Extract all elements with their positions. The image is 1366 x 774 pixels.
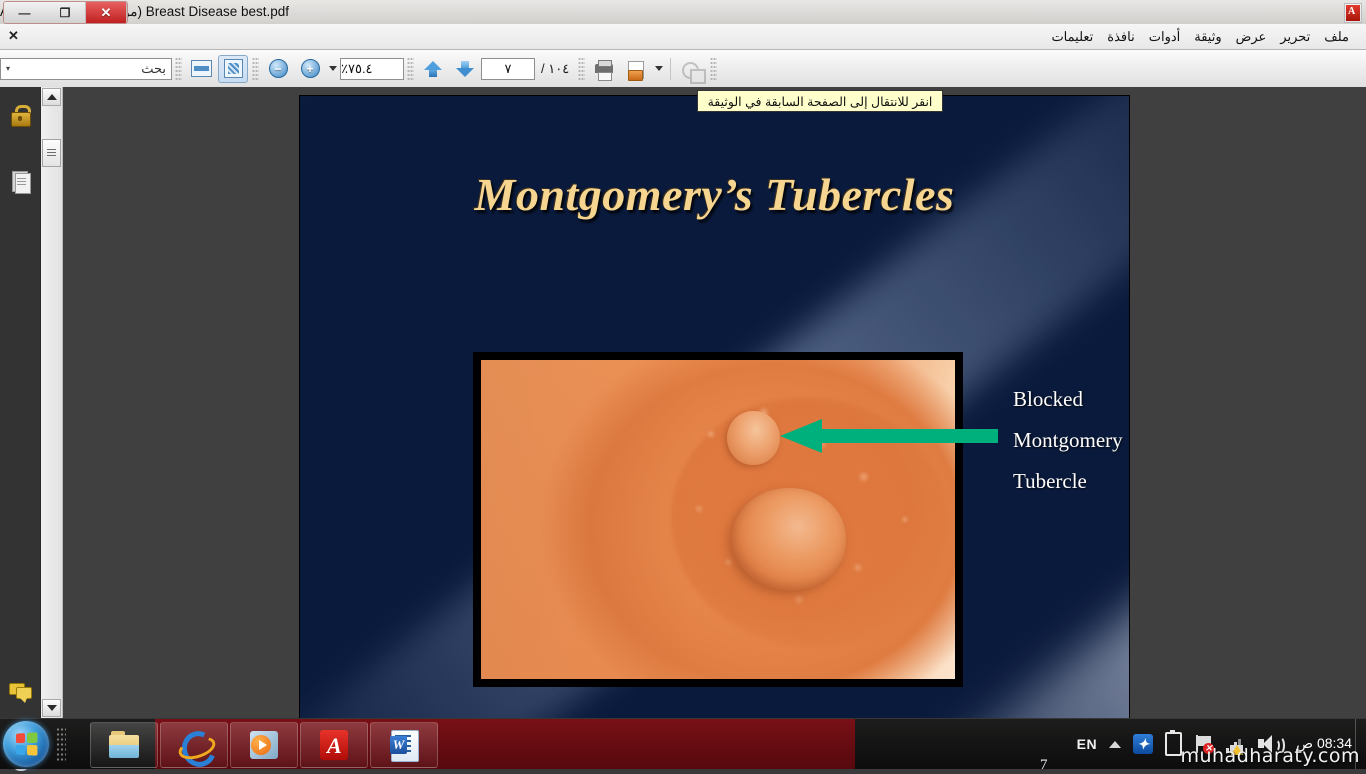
taskbar-adobe-reader[interactable]: A — [300, 722, 368, 768]
chevron-up-icon — [47, 94, 57, 100]
next-page-button[interactable] — [450, 55, 480, 83]
folder-icon — [108, 729, 140, 761]
toolbar-separator — [670, 58, 671, 80]
media-player-icon — [248, 729, 280, 761]
menu-edit[interactable]: تحرير — [1273, 26, 1317, 48]
blocked-tubercle — [727, 411, 779, 465]
vertical-scrollbar[interactable] — [41, 87, 63, 718]
toolbar-grip[interactable] — [710, 57, 717, 81]
menu-bar: ملف تحرير عرض وثيقة أدوات نافذة تعليمات … — [0, 24, 1366, 50]
security-lock-icon[interactable] — [8, 103, 32, 127]
clinical-photo — [481, 360, 955, 679]
arrow-up-icon — [423, 59, 443, 79]
pdf-page: Montgomery’s Tubercles — [300, 96, 1129, 718]
start-button[interactable] — [3, 721, 49, 767]
arrow-down-icon — [455, 59, 475, 79]
label-line-2: Montgomery — [1013, 420, 1153, 461]
restore-icon: ❐ — [60, 7, 71, 19]
zoom-in-icon: + — [301, 59, 320, 78]
window-close-button[interactable]: ✕ — [86, 2, 127, 23]
language-indicator[interactable]: EN — [1077, 736, 1097, 752]
fit-page-button[interactable] — [218, 55, 248, 83]
bluetooth-icon[interactable]: ✦ — [1133, 734, 1153, 754]
clinical-photo-frame — [473, 352, 963, 687]
menu-help[interactable]: تعليمات — [1044, 26, 1100, 48]
adobe-reader-icon: A — [318, 729, 350, 761]
pdf-letter: A — [1348, 6, 1355, 17]
zoom-out-button[interactable]: − — [263, 55, 293, 83]
window-minimize-button[interactable]: — — [4, 2, 45, 23]
page-thumbnails-icon[interactable] — [8, 169, 32, 193]
comments-icon[interactable] — [8, 679, 32, 703]
menu-tools[interactable]: أدوات — [1142, 26, 1188, 48]
site-watermark: muhadharaty.com — [1180, 745, 1360, 767]
minimize-icon: — — [19, 7, 31, 19]
word-icon: W — [388, 729, 420, 761]
zoom-out-icon: − — [269, 59, 288, 78]
menu-window[interactable]: نافذة — [1100, 26, 1141, 48]
document-close-button[interactable]: ✕ — [8, 29, 19, 42]
share-button[interactable] — [676, 55, 706, 83]
adobe-reader-window: ✕ ❐ — Breast Disease best.pdf (مؤقت) - A… — [0, 0, 1366, 718]
search-dropdown-icon[interactable]: ▾ — [6, 64, 10, 73]
document-viewport: Montgomery’s Tubercles Blocked Montgomer… — [0, 87, 1366, 718]
slide-page-number: 7 — [1040, 757, 1048, 774]
nipple — [732, 488, 846, 590]
chevron-down-icon — [47, 705, 57, 711]
email-document-icon — [625, 59, 647, 79]
fit-page-icon — [224, 59, 243, 78]
windows-logo-icon — [16, 732, 37, 756]
zoom-level-input[interactable]: ٧٥.٤٪ — [340, 58, 404, 80]
label-line-1: Blocked — [1013, 379, 1153, 420]
bluetooth-glyph: ✦ — [1133, 734, 1153, 754]
window-controls: ✕ ❐ — — [3, 1, 128, 24]
tooltip: انقر للانتقال إلى الصفحة السابقة في الوث… — [697, 90, 943, 112]
menu-view[interactable]: عرض — [1229, 26, 1274, 48]
window-restore-button[interactable]: ❐ — [45, 2, 86, 23]
taskbar-grip[interactable] — [56, 727, 66, 761]
pdf-app-icon: A — [1344, 3, 1362, 23]
taskbar-media-player[interactable] — [230, 722, 298, 768]
scroll-down-button[interactable] — [42, 699, 61, 717]
fit-width-button[interactable] — [186, 55, 216, 83]
fit-width-icon — [191, 60, 212, 77]
label-line-3: Tubercle — [1013, 461, 1153, 502]
window-title-bar: ✕ ❐ — Breast Disease best.pdf (مؤقت) - A… — [0, 0, 1366, 25]
page-number-input[interactable]: ٧ — [481, 58, 535, 80]
printer-icon — [593, 59, 615, 79]
show-hidden-icons-button[interactable] — [1109, 741, 1121, 748]
navigation-panel — [0, 87, 41, 718]
close-icon: ✕ — [101, 6, 112, 19]
chevron-down-icon[interactable] — [655, 66, 663, 71]
toolbar-grip-3[interactable] — [407, 57, 414, 81]
toolbar-grip-2[interactable] — [578, 57, 585, 81]
grip-lines-icon — [47, 149, 56, 158]
scroll-up-button[interactable] — [42, 88, 61, 106]
previous-page-button[interactable] — [418, 55, 448, 83]
page-total-label: ١٠٤ / — [541, 61, 569, 77]
menu-document[interactable]: وثيقة — [1187, 26, 1228, 48]
taskbar-word[interactable]: W — [370, 722, 438, 768]
zoom-in-button[interactable]: + — [295, 55, 325, 83]
menu-file[interactable]: ملف — [1317, 26, 1356, 48]
slide-title: Montgomery’s Tubercles — [300, 168, 1129, 221]
green-pointer-arrow — [780, 418, 998, 454]
toolbar: ١٠٤ / ٧ ٧٥.٤٪ + − — [0, 50, 1366, 88]
search-field[interactable]: بحث ▾ — [0, 58, 172, 80]
share-globe-icon — [680, 59, 702, 79]
scrollbar-thumb[interactable] — [42, 139, 61, 167]
print-button[interactable] — [589, 55, 619, 83]
toolbar-grip-5[interactable] — [175, 57, 182, 81]
photo-annotation-label: Blocked Montgomery Tubercle — [1013, 379, 1153, 502]
zoom-dropdown-icon[interactable] — [329, 66, 337, 71]
taskbar-explorer[interactable] — [90, 722, 158, 768]
search-placeholder: بحث — [141, 61, 166, 77]
toolbar-grip-4[interactable] — [252, 57, 259, 81]
chevron-up-icon — [1109, 741, 1121, 748]
taskbar: A W EN ✦ ✕ — [0, 718, 1366, 769]
internet-explorer-icon — [178, 729, 210, 761]
taskbar-internet-explorer[interactable] — [160, 722, 228, 768]
email-document-button[interactable] — [621, 55, 651, 83]
